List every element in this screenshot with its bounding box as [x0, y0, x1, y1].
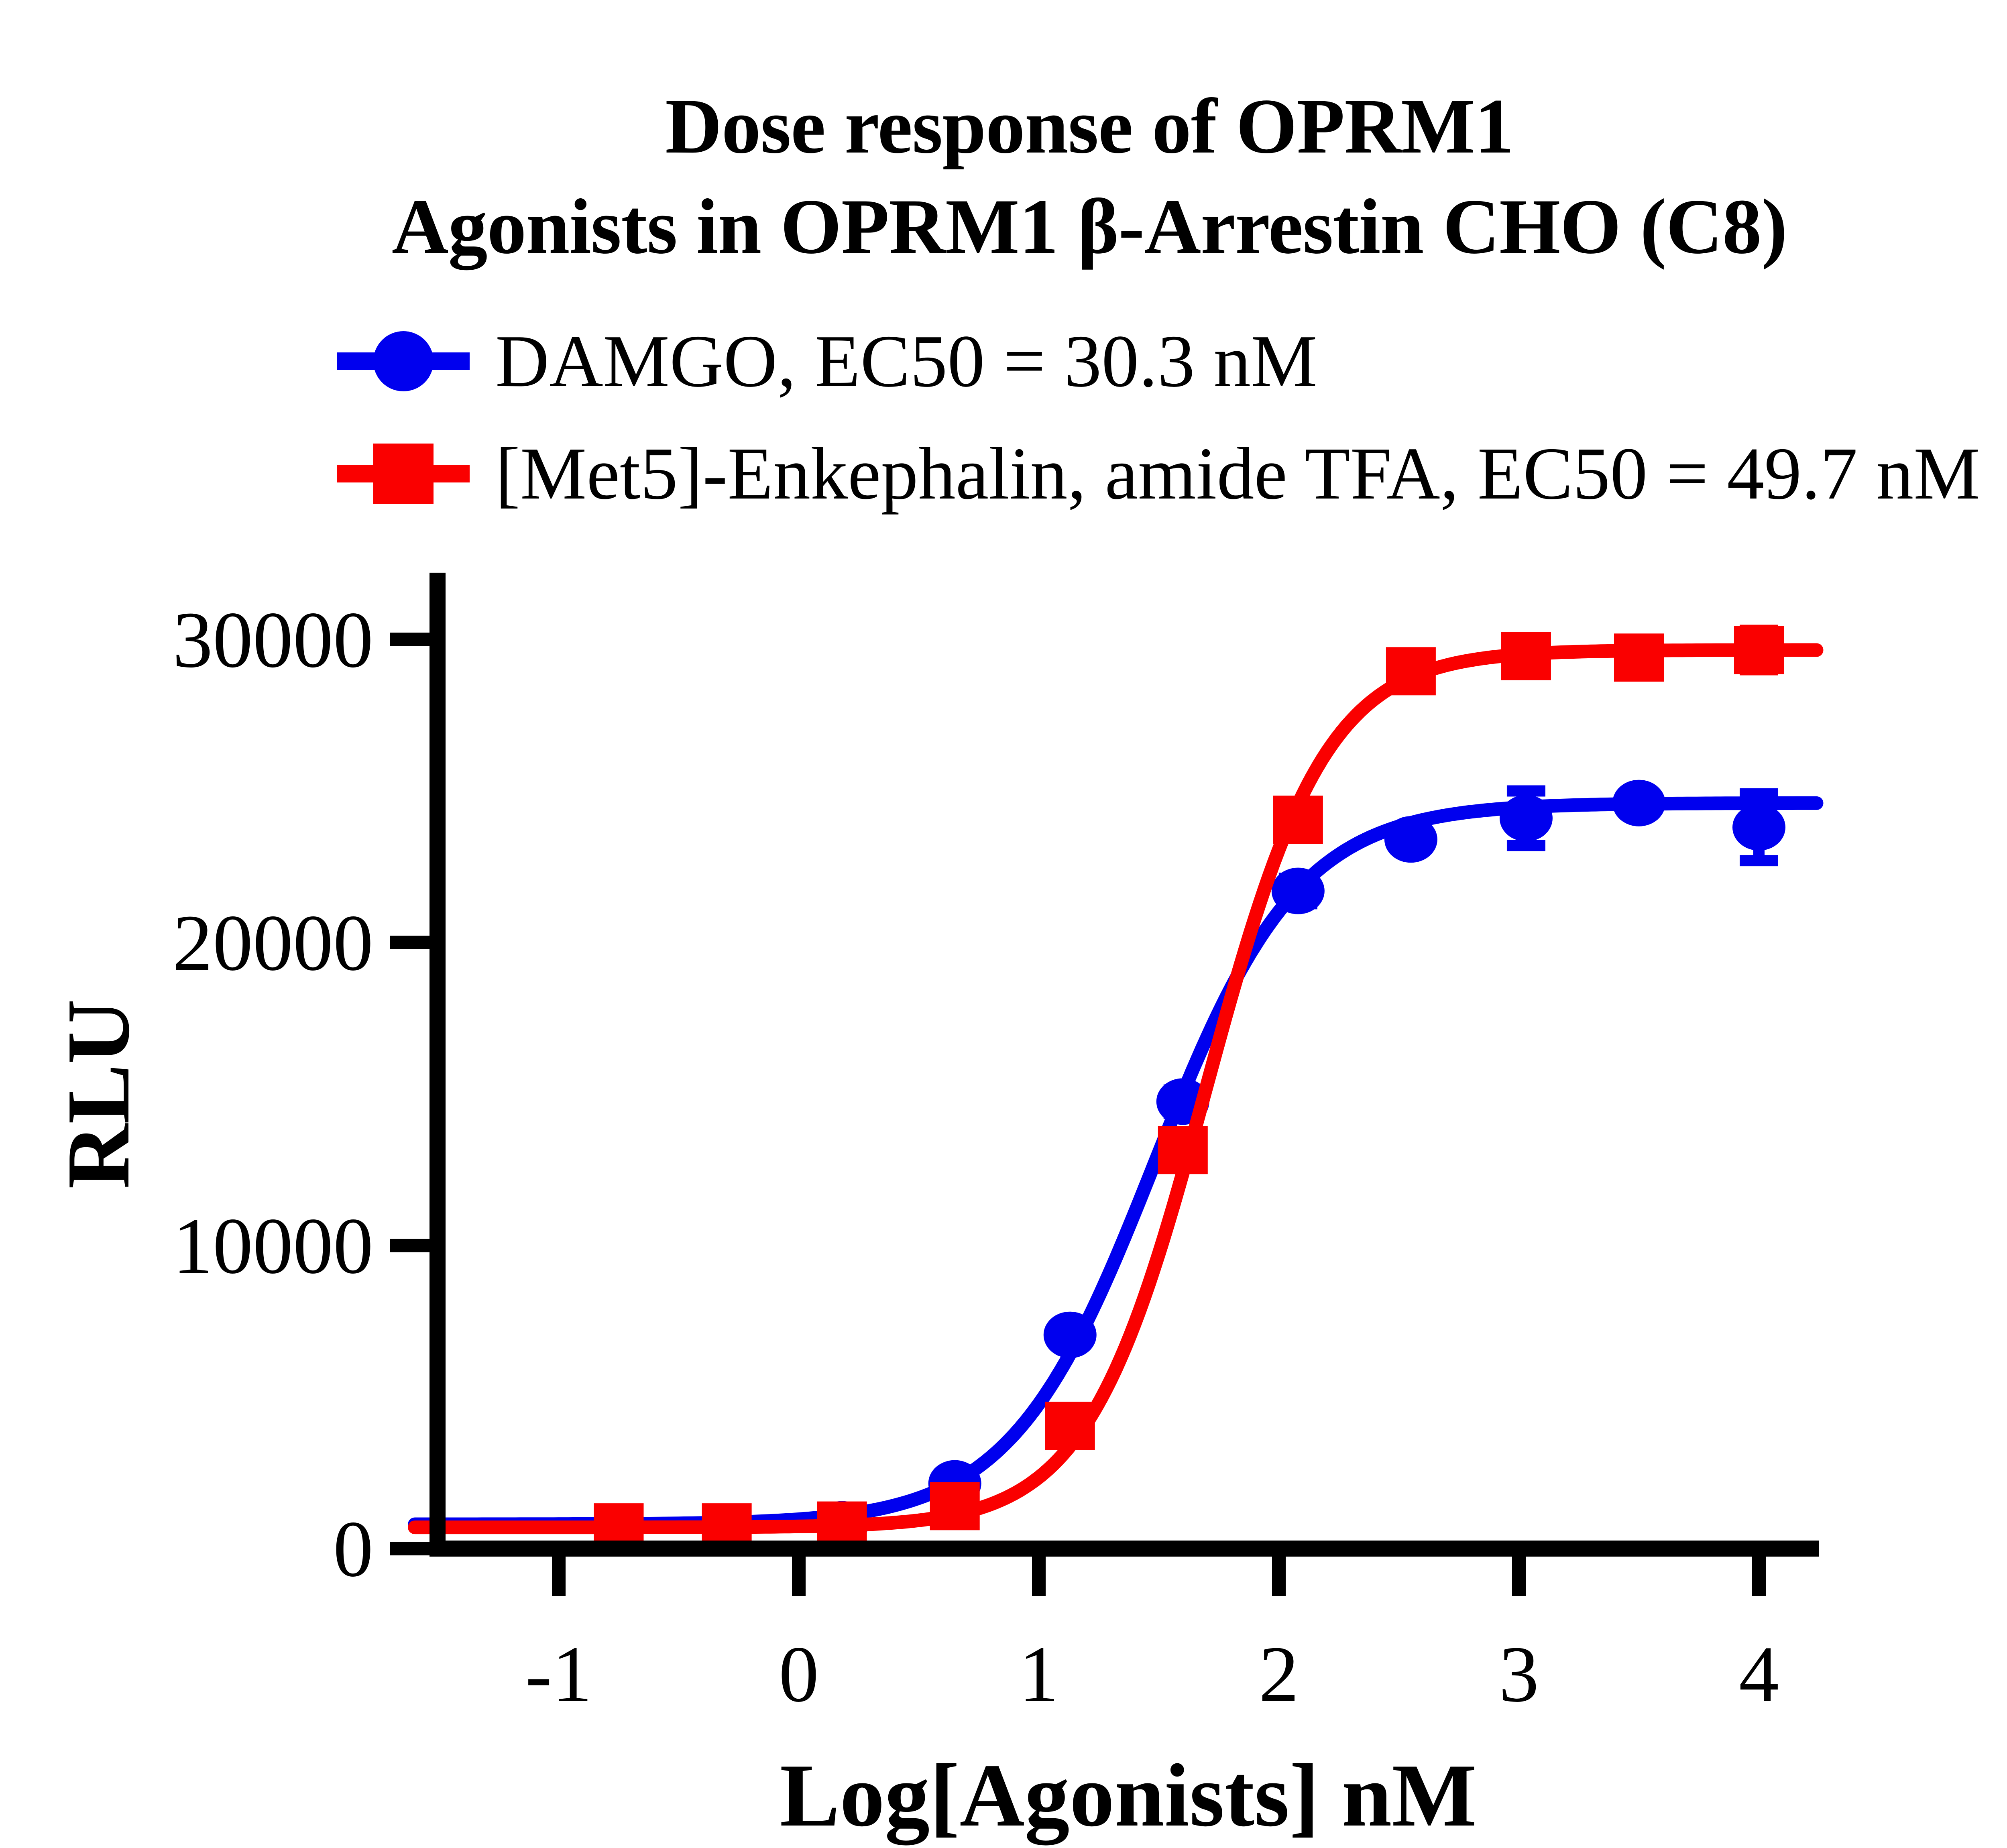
y-tick-label: 30000: [173, 596, 373, 684]
data-point-square: [1045, 1402, 1095, 1450]
fit-curve: [415, 650, 1816, 1528]
legend-label-enkephalin: [Met5]-Enkephalin, amide TFA, EC50 = 49.…: [470, 431, 1980, 517]
x-tick-label: 2: [1259, 1630, 1299, 1719]
axis-layer: [390, 573, 1819, 1596]
axis-label-layer: 0100002000030000-101234Log[Agonists] nMR…: [49, 596, 1779, 1846]
data-point-square: [930, 1482, 980, 1530]
series-layer: [415, 626, 1816, 1551]
y-tick-label: 10000: [173, 1202, 373, 1290]
x-tick-label: 4: [1739, 1630, 1779, 1719]
fit-curve: [415, 803, 1816, 1524]
circle-marker-icon: [373, 331, 434, 391]
y-axis-title: RLU: [49, 999, 148, 1189]
dose-response-plot: 0100002000030000-101234Log[Agonists] nMR…: [0, 534, 2007, 1848]
x-axis-title: Log[Agonists] nM: [780, 1746, 1477, 1846]
data-point-circle: [1612, 780, 1665, 826]
legend-marker-enkephalin: [337, 434, 470, 514]
legend-label-damgo: DAMGO, EC50 = 30.3 nM: [470, 318, 1317, 404]
data-point-circle: [1272, 868, 1325, 914]
y-tick-label: 0: [333, 1505, 373, 1594]
data-point-square: [1158, 1126, 1208, 1174]
data-point-circle: [1732, 804, 1785, 851]
data-point-square: [1734, 626, 1784, 674]
data-point-circle: [1384, 816, 1437, 863]
x-tick-label: 0: [779, 1630, 819, 1719]
data-point-square: [1614, 633, 1664, 682]
data-point-square: [1273, 796, 1323, 844]
plot-region: 0100002000030000-101234Log[Agonists] nMR…: [0, 534, 2007, 1848]
legend-item-enkephalin: [Met5]-Enkephalin, amide TFA, EC50 = 49.…: [0, 417, 2007, 530]
data-point-square: [1501, 632, 1551, 680]
data-point-circle: [1500, 795, 1553, 841]
data-point-square: [1386, 647, 1436, 695]
title-line-2: Agonists in OPRM1 β-Arrestin CHO (C8): [0, 177, 2007, 277]
legend-marker-damgo: [337, 321, 470, 401]
x-tick-label: 3: [1499, 1630, 1539, 1719]
legend-item-damgo: DAMGO, EC50 = 30.3 nM: [0, 305, 2007, 417]
square-marker-icon: [373, 444, 434, 504]
x-tick-label: -1: [525, 1630, 592, 1719]
title-line-1: Dose response of OPRM1: [0, 76, 2007, 177]
chart-title: Dose response of OPRM1 Agonists in OPRM1…: [0, 76, 2007, 277]
x-tick-label: 1: [1019, 1630, 1059, 1719]
chart-page: Dose response of OPRM1 Agonists in OPRM1…: [0, 0, 2007, 1848]
data-point-circle: [1044, 1312, 1097, 1358]
chart-legend: DAMGO, EC50 = 30.3 nM [Met5]-Enkephalin,…: [0, 305, 2007, 530]
y-tick-label: 20000: [173, 899, 373, 987]
